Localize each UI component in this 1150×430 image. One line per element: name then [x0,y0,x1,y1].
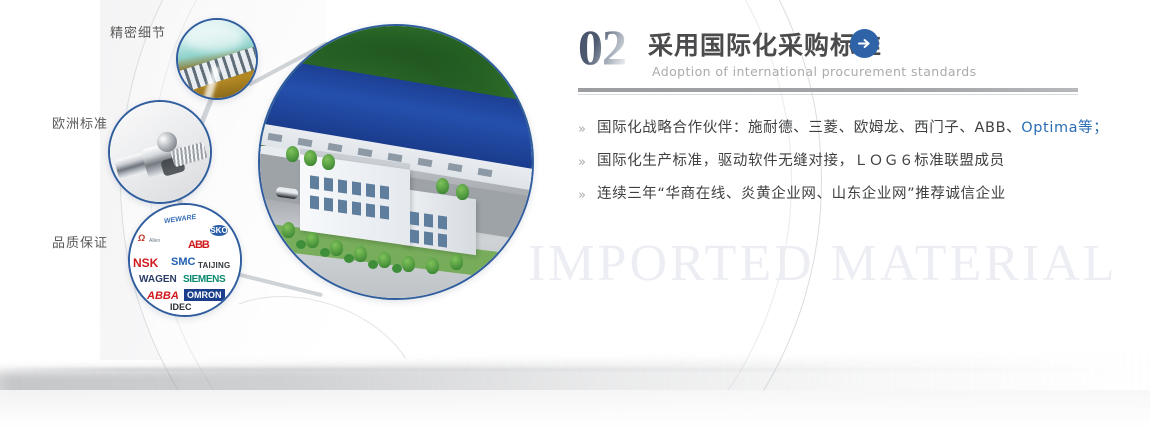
annex-window [424,213,433,227]
blade-highlight [184,24,244,52]
shrub [368,260,378,269]
tree [286,146,299,162]
logo-omron: OMRON [184,289,225,301]
chevron-double-right-icon: » [578,122,586,137]
page-subtitle: Adoption of international procurement st… [652,64,977,79]
slide-canvas: 精密细节 欧洲标准 品质保证 WEWARE SKO Ω Allen ABB NS… [0,0,1150,430]
office-window [338,199,347,213]
tree [426,258,439,274]
list-item-text-main: 国际化战略合作伙伴：施耐德、三菱、欧姆龙、西门子、ABB、 [597,120,1021,136]
ball-screw-photo[interactable] [108,100,212,204]
tree [322,154,335,170]
office-window [324,177,333,191]
annex-window [438,215,447,229]
shrub [296,240,306,249]
logo-omega-text: Allen [149,238,160,244]
tree [402,256,415,272]
section-header: 02 采用国际化采购标准 Adoption of international p… [578,22,1118,86]
shrub [320,248,330,257]
section-number: 02 [578,22,626,72]
list-item-text: 国际化战略合作伙伴：施耐德、三菱、欧姆龙、西门子、ABB、Optima等； [597,116,1108,137]
office-window [310,195,319,209]
shrub [392,264,402,273]
label-quality-guarantee: 品质保证 [52,232,108,251]
logo-taijing: TAIJING [198,261,230,270]
list-item-text: 国际化生产标准，驱动软件无缝对接，ＬＯＧ６标准联盟成员 [597,149,1005,170]
office-window [352,181,361,195]
imported-material-watermark: IMPORTED MATERIAL [528,234,1118,293]
logo-sko: SKO [210,225,228,236]
office-window [366,183,375,197]
tree [330,240,343,256]
list-item: » 国际化生产标准，驱动软件无缝对接，ＬＯＧ６标准联盟成员 [578,149,1118,182]
office-window [338,179,347,193]
tree [282,222,295,238]
tree [378,252,391,268]
logo-idec: IDEC [170,302,192,312]
chevron-double-right-icon: » [578,188,586,203]
label-precision-detail: 精密细节 [110,22,166,41]
shrub [344,254,354,263]
tree [450,254,463,270]
office-window [380,185,389,199]
bottom-edge-line [0,368,1150,371]
tree [436,178,449,194]
list-item: » 国际化战略合作伙伴：施耐德、三菱、欧姆龙、西门子、ABB、Optima等； [578,116,1118,149]
logo-abb: ABB [188,239,209,251]
logo-omega-mark: Ω [138,233,145,243]
logo-siemens: SIEMENS [183,274,225,285]
logo-smc: SMC [171,256,195,268]
label-european-standard: 欧洲标准 [52,113,108,132]
page-title: 采用国际化采购标准 [648,26,882,62]
header-divider-thin [578,94,1078,95]
list-item: » 连续三年“华商在线、炎黄企业网、山东企业网”推荐诚信企业 [578,182,1118,215]
tree [456,184,469,200]
annex-window [410,229,419,243]
tree [306,232,319,248]
annex-window [410,211,419,225]
logo-wagen: WAGEN [139,274,177,285]
tree [354,246,367,262]
header-divider [578,88,1078,92]
feature-list: » 国际化战略合作伙伴：施耐德、三菱、欧姆龙、西门子、ABB、Optima等； … [578,116,1118,215]
chevron-double-right-icon: » [578,155,586,170]
brand-logo-cloud[interactable]: WEWARE SKO Ω Allen ABB NSK SMC TAIJING W… [128,203,242,317]
list-item-text: 连续三年“华商在线、炎黄企业网、山东企业网”推荐诚信企业 [597,182,1006,203]
right-content: 02 采用国际化采购标准 Adoption of international p… [578,22,1118,86]
bottom-fade [0,390,1150,430]
annex-window [438,233,447,247]
annex-window [424,231,433,245]
logo-abba: ABBA [147,290,179,302]
office-window [366,203,375,217]
office-window [324,197,333,211]
tree [304,150,317,166]
office-window [380,205,389,219]
logo-nsk: NSK [133,256,158,270]
office-window [310,175,319,189]
office-window [352,201,361,215]
precision-blade-photo[interactable] [176,18,258,100]
arrow-right-icon[interactable] [850,29,879,58]
factory-photo[interactable] [258,24,534,300]
list-item-highlight: Optima等； [1021,120,1108,136]
